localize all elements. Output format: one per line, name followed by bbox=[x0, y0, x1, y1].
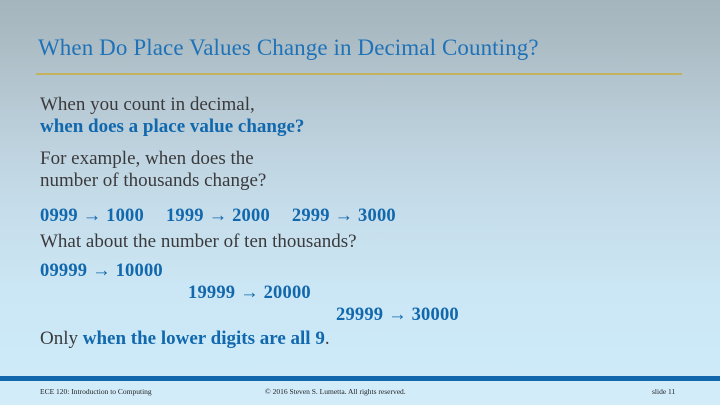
slide-body: When you count in decimal, when does a p… bbox=[0, 88, 720, 360]
footer-copyright: © 2016 Steven S. Lumetta. All rights res… bbox=[265, 387, 406, 397]
page-title: When Do Place Values Change in Decimal C… bbox=[38, 33, 678, 63]
body-line-6: What about the number of ten thousands? bbox=[40, 231, 357, 253]
footer-course-label: ECE 120: Introduction to Computing bbox=[40, 387, 152, 397]
slide: When Do Place Values Change in Decimal C… bbox=[0, 0, 720, 405]
conclusion-emphasis: when the lower digits are all 9 bbox=[83, 328, 325, 349]
body-line-1: When you count in decimal, bbox=[40, 94, 255, 116]
body-line-3: For example, when does the bbox=[40, 148, 254, 170]
conclusion-prefix: Only bbox=[40, 328, 83, 349]
transition-0999-1000: 0999 → 1000 bbox=[40, 206, 144, 226]
footer-slide-number: slide 11 bbox=[652, 387, 675, 397]
transition-09999-10000: 09999 → 10000 bbox=[40, 260, 163, 282]
transition-19999-20000: 19999 → 20000 bbox=[188, 282, 311, 304]
title-divider bbox=[36, 73, 682, 75]
transition-29999-30000: 29999 → 30000 bbox=[336, 304, 459, 326]
body-line-2-emphasis: when does a place value change? bbox=[40, 116, 304, 138]
transition-1999-2000: 1999 → 2000 bbox=[166, 206, 270, 226]
conclusion-line: Only when the lower digits are all 9. bbox=[40, 328, 330, 350]
transition-2999-3000: 2999 → 3000 bbox=[292, 206, 396, 226]
body-line-4: number of thousands change? bbox=[40, 170, 266, 192]
footer: ECE 120: Introduction to Computing © 201… bbox=[0, 381, 720, 405]
thousands-transitions-row: 0999 → 10001999 → 20002999 → 3000 bbox=[40, 205, 396, 227]
conclusion-suffix: . bbox=[325, 328, 330, 349]
